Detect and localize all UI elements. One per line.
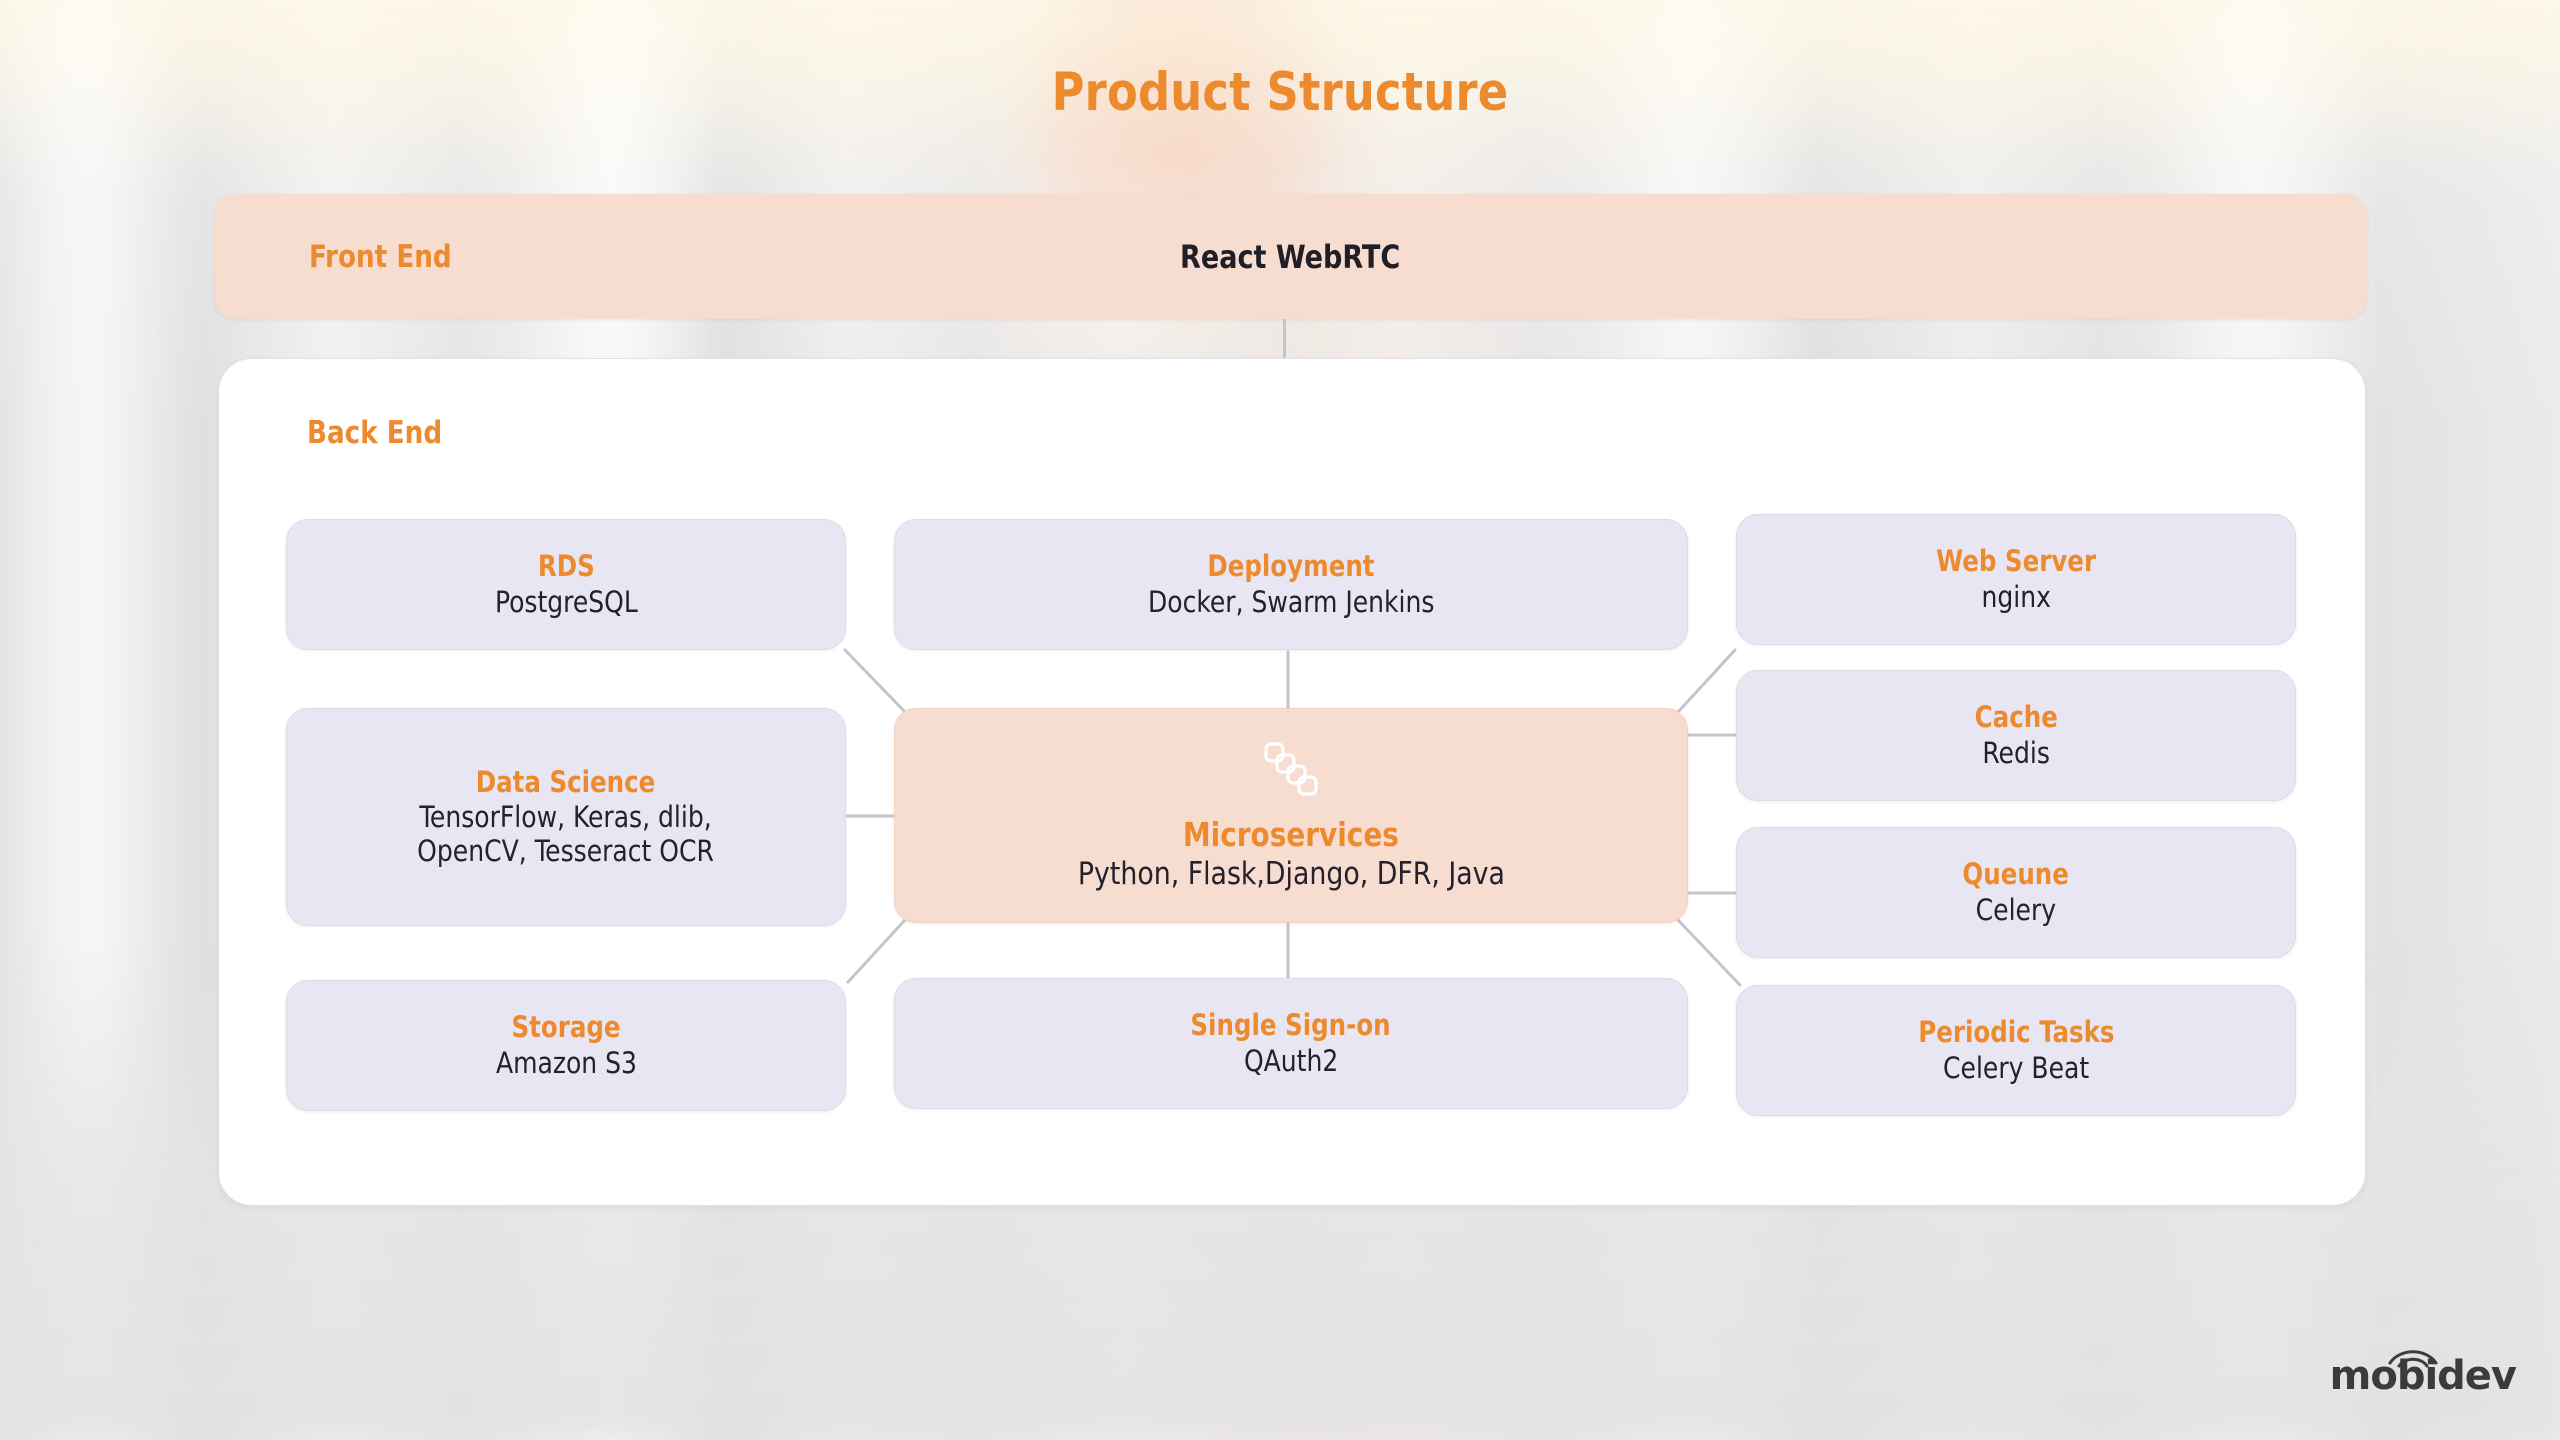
node-cache-sub: Redis	[1982, 736, 2049, 770]
node-storage-title: Storage	[511, 1011, 620, 1043]
node-single-sign-on-sub: QAuth2	[1244, 1044, 1338, 1078]
node-periodic-tasks-title: Periodic Tasks	[1918, 1016, 2114, 1048]
node-queune[interactable]: Queune Celery	[1736, 827, 2296, 958]
link-webserver-microservices	[1678, 650, 1735, 712]
node-queune-title: Queune	[1963, 858, 2070, 890]
node-web-server-title: Web Server	[1936, 545, 2096, 577]
node-periodic-tasks-sub: Celery Beat	[1943, 1051, 2089, 1085]
node-microservices-sub: Python, Flask,Django, DFR, Java	[1078, 856, 1505, 893]
node-single-sign-on[interactable]: Single Sign-on QAuth2	[894, 978, 1688, 1109]
node-single-sign-on-title: Single Sign-on	[1191, 1009, 1391, 1041]
mobidev-logo: mobidev	[2330, 1356, 2516, 1396]
node-rds-title: RDS	[538, 550, 595, 582]
node-data-science-sub: TensorFlow, Keras, dlib, OpenCV, Tessera…	[418, 800, 715, 868]
node-deployment-title: Deployment	[1207, 550, 1374, 582]
node-web-server[interactable]: Web Server nginx	[1736, 514, 2296, 645]
node-queune-sub: Celery	[1976, 893, 2056, 927]
node-storage[interactable]: Storage Amazon S3	[286, 980, 846, 1111]
link-microservices-periodictasks	[1678, 920, 1740, 985]
node-microservices[interactable]: Microservices Python, Flask,Django, DFR,…	[894, 708, 1688, 923]
node-deployment-sub: Docker, Swarm Jenkins	[1148, 585, 1434, 619]
node-cache[interactable]: Cache Redis	[1736, 670, 2296, 801]
node-data-science[interactable]: Data Science TensorFlow, Keras, dlib, Op…	[286, 708, 846, 926]
node-web-server-sub: nginx	[1981, 580, 2050, 614]
node-deployment[interactable]: Deployment Docker, Swarm Jenkins	[894, 519, 1688, 650]
node-data-science-title: Data Science	[476, 766, 656, 798]
node-rds[interactable]: RDS PostgreSQL	[286, 519, 846, 650]
node-storage-sub: Amazon S3	[495, 1046, 636, 1080]
node-rds-sub: PostgreSQL	[495, 585, 638, 619]
node-microservices-title: Microservices	[1183, 817, 1399, 854]
node-periodic-tasks[interactable]: Periodic Tasks Celery Beat	[1736, 985, 2296, 1116]
node-cache-title: Cache	[1974, 701, 2057, 733]
slide-stage: Product Structure Front End React WebRTC…	[0, 0, 2560, 1440]
wifi-signal-icon	[2386, 1344, 2440, 1368]
link-rds-microservices	[845, 650, 905, 712]
link-microservices-storage	[848, 920, 905, 982]
blocks-chain-icon	[1261, 739, 1321, 803]
